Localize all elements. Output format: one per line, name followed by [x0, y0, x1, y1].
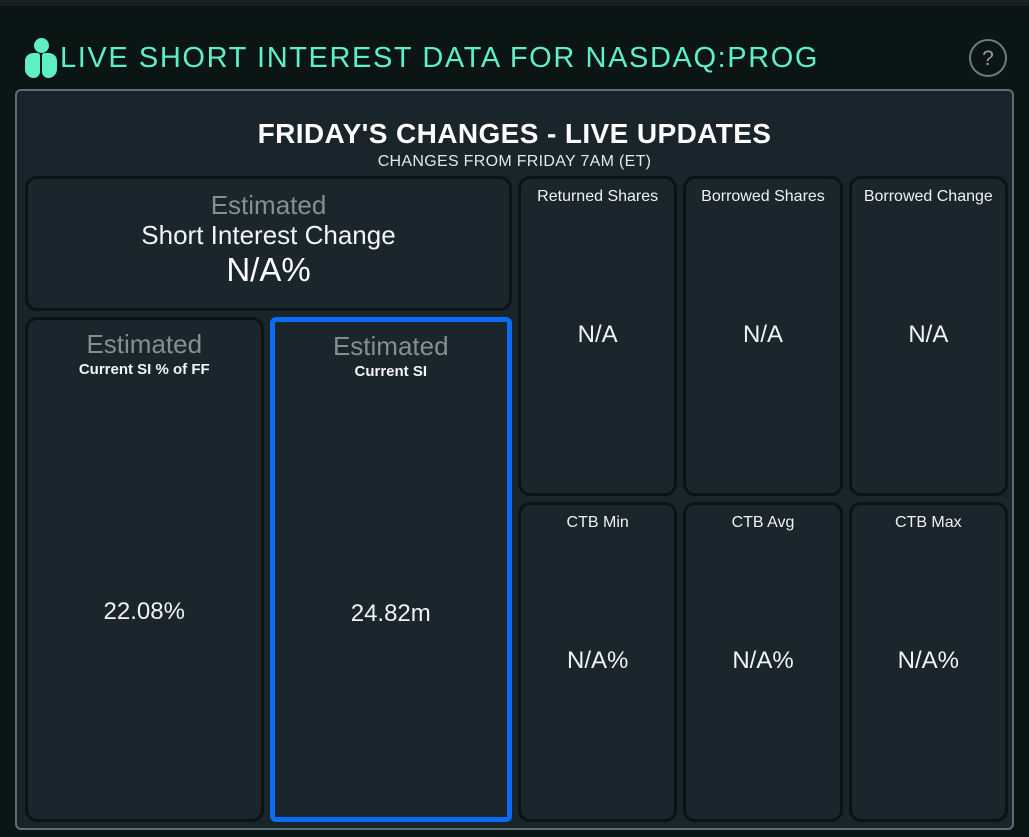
card-value: N/A — [521, 321, 674, 349]
card-label: Borrowed Change — [864, 188, 993, 206]
panel-title: FRIDAY'S CHANGES - LIVE UPDATES — [25, 119, 1004, 148]
card-returned-shares[interactable]: Returned Shares N/A — [518, 176, 677, 496]
page-header: LIVE SHORT INTEREST DATA FOR NASDAQ:PROG… — [0, 26, 1029, 90]
card-value: N/A% — [852, 647, 1005, 675]
shares-row: Returned Shares N/A Borrowed Shares N/A … — [518, 176, 1008, 496]
card-current-si-pct-ff[interactable]: Estimated Current SI % of FF 22.08% — [25, 317, 264, 822]
top-strip — [0, 0, 1029, 6]
card-metric-name: Current SI % of FF — [79, 362, 210, 379]
card-short-interest-change[interactable]: Estimated Short Interest Change N/A% — [25, 176, 512, 311]
app-root: LIVE SHORT INTEREST DATA FOR NASDAQ:PROG… — [0, 0, 1029, 837]
card-borrowed-change[interactable]: Borrowed Change N/A — [849, 176, 1008, 496]
card-label: CTB Max — [895, 514, 962, 532]
card-current-si[interactable]: Estimated Current SI 24.82m — [270, 317, 513, 822]
card-label: Borrowed Shares — [701, 188, 825, 206]
card-estimated-label: Estimated — [211, 191, 327, 220]
card-label: CTB Min — [567, 514, 629, 532]
live-updates-panel: FRIDAY'S CHANGES - LIVE UPDATES CHANGES … — [15, 89, 1014, 830]
card-value: N/A% — [686, 647, 839, 675]
card-metric-name: Short Interest Change — [141, 221, 395, 250]
left-bottom-pair: Estimated Current SI % of FF 22.08% Esti… — [25, 317, 512, 822]
metrics-grid: Estimated Short Interest Change N/A% Est… — [25, 176, 1008, 822]
card-label: CTB Avg — [732, 514, 795, 532]
card-estimated-label: Estimated — [86, 330, 202, 359]
panel-subtitle: CHANGES FROM FRIDAY 7AM (ET) — [25, 153, 1004, 171]
card-ctb-min[interactable]: CTB Min N/A% — [518, 502, 677, 822]
card-metric-value: N/A% — [226, 252, 310, 289]
card-metric-value: 24.82m — [275, 600, 508, 628]
person-info-logo-icon — [24, 36, 58, 80]
card-ctb-max[interactable]: CTB Max N/A% — [849, 502, 1008, 822]
card-estimated-label: Estimated — [333, 332, 449, 361]
card-value: N/A — [686, 321, 839, 349]
right-column: Returned Shares N/A Borrowed Shares N/A … — [518, 176, 1008, 822]
card-metric-name: Current SI — [354, 364, 427, 381]
card-borrowed-shares[interactable]: Borrowed Shares N/A — [683, 176, 842, 496]
card-ctb-avg[interactable]: CTB Avg N/A% — [683, 502, 842, 822]
card-value: N/A% — [521, 647, 674, 675]
page-title: LIVE SHORT INTEREST DATA FOR NASDAQ:PROG — [60, 44, 819, 73]
help-icon[interactable]: ? — [969, 39, 1007, 77]
card-label: Returned Shares — [537, 188, 658, 206]
card-metric-value: 22.08% — [28, 598, 261, 626]
card-value: N/A — [852, 321, 1005, 349]
ctb-row: CTB Min N/A% CTB Avg N/A% CTB Max N/A% — [518, 502, 1008, 822]
left-column: Estimated Short Interest Change N/A% Est… — [25, 176, 512, 822]
